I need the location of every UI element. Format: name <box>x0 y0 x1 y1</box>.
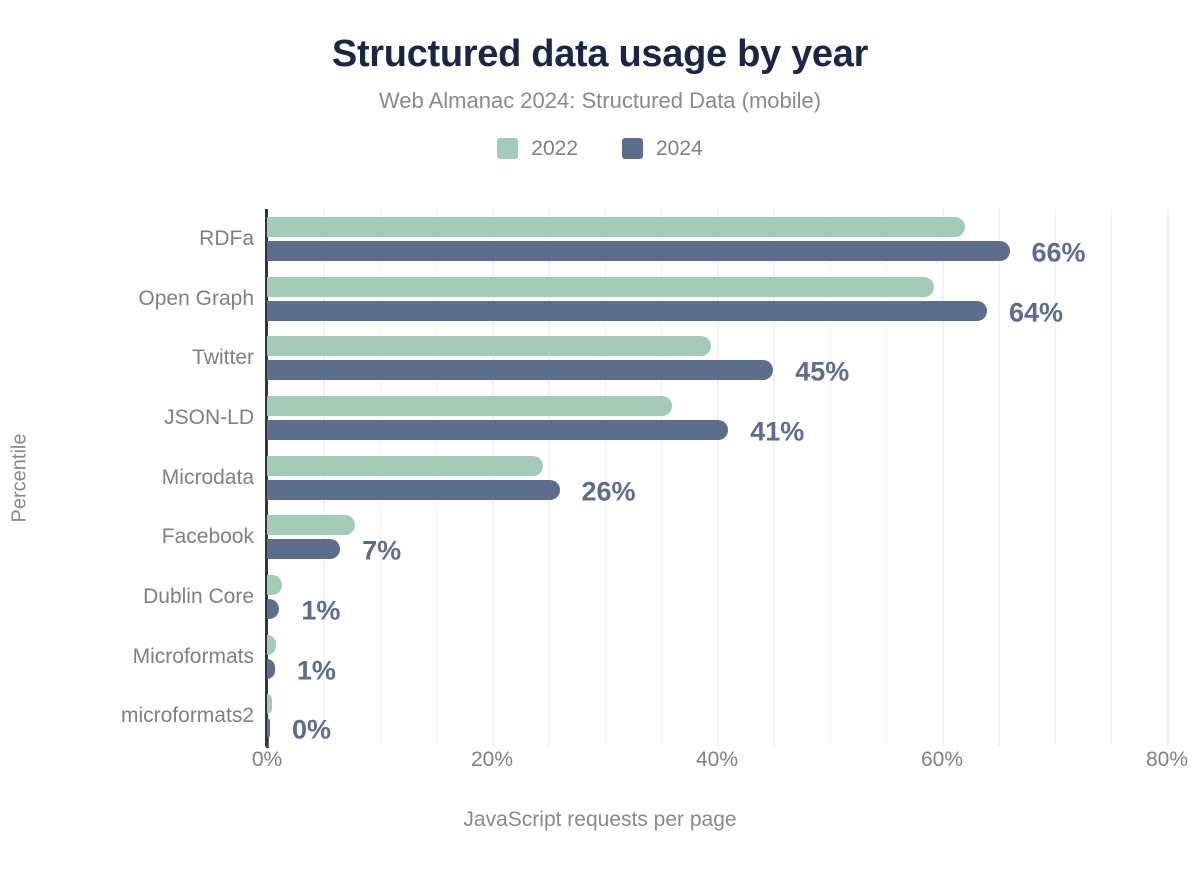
x-tick-label: 0% <box>252 748 282 772</box>
gridline <box>1055 209 1057 746</box>
bar-2022-facebook[interactable] <box>267 515 355 535</box>
bar-2024-json-ld[interactable] <box>267 420 728 440</box>
x-tick-label: 20% <box>471 748 513 772</box>
bar-value-label: 1% <box>297 655 336 686</box>
x-tick-label: 60% <box>921 748 963 772</box>
gridline <box>886 209 888 746</box>
plot-inner: 66%64%45%41%26%7%1%1%0% <box>267 209 1167 746</box>
gridline <box>492 209 494 746</box>
bar-2024-twitter[interactable] <box>267 360 773 380</box>
category-axis-labels: RDFaOpen GraphTwitterJSON-LDMicrodataFac… <box>22 209 254 746</box>
bar-2022-microformats2[interactable] <box>267 694 272 714</box>
bar-value-label: 26% <box>582 476 636 507</box>
bar-2024-microformats[interactable] <box>267 659 275 679</box>
bar-value-label: 7% <box>362 536 401 567</box>
legend-label-2022: 2022 <box>531 137 578 161</box>
gridline <box>1111 209 1113 746</box>
chart-legend: 2022 2024 <box>0 137 1200 161</box>
bar-value-label: 1% <box>301 595 340 626</box>
bar-value-label: 64% <box>1009 297 1063 328</box>
gridline <box>380 209 382 746</box>
gridline <box>773 209 775 746</box>
chart-subtitle: Web Almanac 2024: Structured Data (mobil… <box>0 89 1200 113</box>
bar-2022-dublin-core[interactable] <box>267 575 282 595</box>
bar-2022-twitter[interactable] <box>267 336 711 356</box>
bar-2022-open-graph[interactable] <box>267 277 934 297</box>
gridline <box>605 209 607 746</box>
category-label-microformats2: microformats2 <box>24 704 254 728</box>
category-label-open-graph: Open Graph <box>24 287 254 311</box>
bar-value-label: 0% <box>292 715 331 746</box>
legend-item-2022[interactable]: 2022 <box>497 137 578 161</box>
gridline <box>661 209 663 746</box>
y-axis-line <box>265 209 268 746</box>
gridline <box>830 209 832 746</box>
bar-2024-dublin-core[interactable] <box>267 599 279 619</box>
chart-title: Structured data usage by year <box>0 34 1200 76</box>
gridline <box>998 209 1000 746</box>
gridline <box>942 209 944 746</box>
category-label-microformats: Microformats <box>24 645 254 669</box>
x-tick-mark-origin <box>266 737 269 748</box>
gridline <box>1167 209 1169 746</box>
category-label-json-ld: JSON-LD <box>24 406 254 430</box>
bar-2024-microformats2[interactable] <box>267 718 270 738</box>
gridline <box>717 209 719 746</box>
legend-swatch-2022 <box>497 138 518 159</box>
bar-value-label: 66% <box>1032 237 1086 268</box>
bar-2022-microdata[interactable] <box>267 456 543 476</box>
bar-2024-rdfa[interactable] <box>267 241 1010 261</box>
gridline <box>436 209 438 746</box>
x-axis-title: JavaScript requests per page <box>0 808 1200 832</box>
bar-2024-open-graph[interactable] <box>267 301 987 321</box>
category-label-dublin-core: Dublin Core <box>24 585 254 609</box>
bar-value-label: 41% <box>750 416 804 447</box>
legend-label-2024: 2024 <box>656 137 703 161</box>
category-label-facebook: Facebook <box>24 525 254 549</box>
legend-swatch-2024 <box>622 138 643 159</box>
chart-header: Structured data usage by year Web Almana… <box>0 0 1200 161</box>
bar-2022-rdfa[interactable] <box>267 217 965 237</box>
bar-2024-microdata[interactable] <box>267 480 560 500</box>
x-tick-label: 80% <box>1146 748 1188 772</box>
bar-value-label: 45% <box>795 357 849 388</box>
category-label-microdata: Microdata <box>24 466 254 490</box>
gridline <box>323 209 325 746</box>
y-axis-title: Percentile <box>9 434 32 523</box>
gridline <box>548 209 550 746</box>
category-label-rdfa: RDFa <box>24 227 254 251</box>
bar-2022-microformats[interactable] <box>267 635 276 655</box>
bar-2024-facebook[interactable] <box>267 539 340 559</box>
legend-item-2024[interactable]: 2024 <box>622 137 703 161</box>
x-axis-ticks: 0%20%40%60%80% <box>267 748 1167 788</box>
bar-2022-json-ld[interactable] <box>267 396 672 416</box>
category-label-twitter: Twitter <box>24 346 254 370</box>
x-tick-label: 40% <box>696 748 738 772</box>
